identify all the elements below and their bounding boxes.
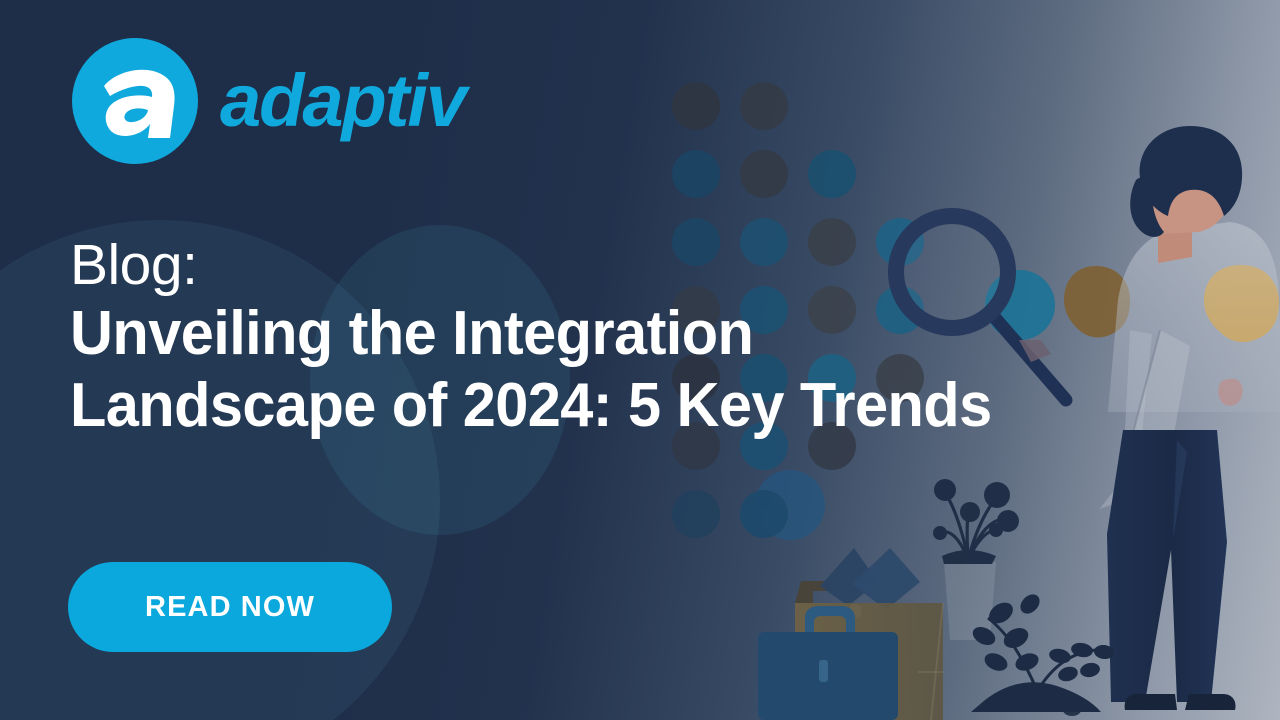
plant-pot	[944, 562, 996, 640]
brand-logo[interactable]: adaptiv	[72, 38, 465, 164]
figure-shoe-right	[1185, 694, 1236, 710]
page-title: Unveiling the Integration Landscape of 2…	[70, 298, 1184, 442]
photo-2	[852, 548, 920, 610]
figure-trousers	[1107, 430, 1227, 702]
figure-face	[1146, 142, 1232, 234]
briefcase	[758, 606, 898, 720]
plant-bud	[933, 526, 947, 540]
blog-promo-banner: adaptiv Blog: Unveiling the Integration …	[0, 0, 1280, 720]
briefcase-handle	[805, 606, 855, 632]
eyebrow-label: Blog:	[70, 236, 1230, 294]
brand-wordmark: adaptiv	[220, 64, 465, 138]
read-now-button[interactable]: READ NOW	[68, 562, 392, 652]
photo-1	[820, 548, 878, 606]
foliage-bush	[970, 591, 1115, 712]
decor-circle-small	[755, 470, 825, 540]
plant-bud	[960, 502, 980, 522]
figure-beard	[1130, 177, 1164, 237]
file-box-body	[795, 603, 943, 720]
plant-stems	[942, 494, 1004, 560]
plant-bud	[997, 510, 1019, 532]
foliage-sprig-left	[1046, 696, 1081, 716]
plant-bud	[934, 479, 956, 501]
plant-bud	[989, 523, 1003, 537]
potted-plant	[933, 479, 1019, 640]
promo-copy: Blog: Unveiling the Integration Landscap…	[70, 236, 1230, 442]
plant-bud	[984, 482, 1010, 508]
figure-hair	[1140, 126, 1243, 216]
figure-shoe-left	[1125, 694, 1177, 710]
adaptiv-logo-mark	[72, 38, 198, 164]
plant-soil	[942, 550, 996, 564]
file-box-with-photos	[795, 548, 944, 720]
briefcase-body	[758, 632, 898, 720]
